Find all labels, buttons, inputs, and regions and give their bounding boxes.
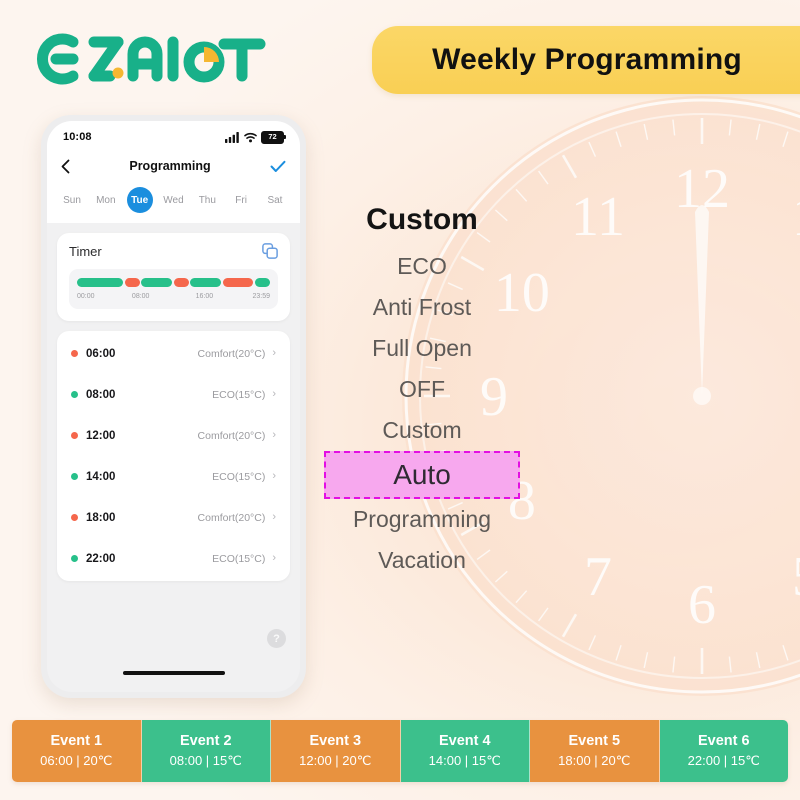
event-title: Event 6 bbox=[698, 733, 750, 749]
event-detail: 18:00 | 20℃ bbox=[558, 753, 630, 769]
chevron-right-icon[interactable]: › bbox=[272, 430, 276, 441]
day-thu[interactable]: Thu bbox=[194, 187, 220, 213]
battery-icon: 72 bbox=[261, 131, 284, 144]
event-card[interactable]: Event 622:00 | 15℃ bbox=[660, 720, 789, 782]
row-mode: ECO(15°C) bbox=[212, 471, 265, 483]
row-left: 06:00 bbox=[71, 348, 115, 360]
row-time: 08:00 bbox=[86, 389, 115, 401]
mode-item-full-open-3[interactable]: Full Open bbox=[372, 328, 472, 369]
day-sun[interactable]: Sun bbox=[59, 187, 85, 213]
event-title: Event 5 bbox=[568, 733, 620, 749]
event-detail: 12:00 | 20℃ bbox=[299, 753, 371, 769]
timeline-segment[interactable] bbox=[141, 278, 172, 287]
row-right: Comfort(20°C)› bbox=[198, 430, 276, 442]
back-chevron-icon[interactable] bbox=[61, 159, 70, 174]
timeline-box: 00:0008:0016:0023:59 bbox=[69, 269, 278, 309]
mode-item-programming-7[interactable]: Programming bbox=[353, 499, 491, 540]
svg-text:12: 12 bbox=[674, 158, 730, 220]
timeline-labels: 00:0008:0016:0023:59 bbox=[77, 291, 270, 304]
svg-text:11: 11 bbox=[571, 186, 625, 248]
schedule-row[interactable]: 14:00ECO(15°C)› bbox=[57, 456, 290, 497]
chevron-right-icon[interactable]: › bbox=[272, 553, 276, 564]
timeline-segment[interactable] bbox=[190, 278, 221, 287]
mode-item-vacation-8[interactable]: Vacation bbox=[378, 540, 466, 581]
mode-list: CustomECOAnti FrostFull OpenOFFCustomAut… bbox=[322, 196, 522, 581]
event-title: Event 4 bbox=[439, 733, 491, 749]
day-tue[interactable]: Tue bbox=[127, 187, 153, 213]
event-bar: Event 106:00 | 20℃Event 208:00 | 15℃Even… bbox=[12, 720, 788, 782]
brand-logo bbox=[32, 28, 268, 90]
chevron-right-icon[interactable]: › bbox=[272, 389, 276, 400]
status-dot bbox=[71, 350, 78, 357]
row-time: 12:00 bbox=[86, 430, 115, 442]
chevron-right-icon[interactable]: › bbox=[272, 471, 276, 482]
row-mode: ECO(15°C) bbox=[212, 553, 265, 565]
phone-screen: 10:08 bbox=[47, 121, 300, 692]
schedule-row[interactable]: 12:00Comfort(20°C)› bbox=[57, 415, 290, 456]
svg-text:6: 6 bbox=[688, 574, 716, 636]
row-time: 06:00 bbox=[86, 348, 115, 360]
row-mode: ECO(15°C) bbox=[212, 389, 265, 401]
day-wed[interactable]: Wed bbox=[160, 187, 186, 213]
row-time: 22:00 bbox=[86, 553, 115, 565]
row-time: 14:00 bbox=[86, 471, 115, 483]
row-mode: Comfort(20°C) bbox=[198, 348, 266, 360]
battery-level: 72 bbox=[268, 133, 276, 141]
event-title: Event 2 bbox=[180, 733, 232, 749]
schedule-row[interactable]: 22:00ECO(15°C)› bbox=[57, 538, 290, 579]
row-left: 14:00 bbox=[71, 471, 115, 483]
row-right: ECO(15°C)› bbox=[212, 471, 276, 483]
event-card[interactable]: Event 518:00 | 20℃ bbox=[530, 720, 660, 782]
mode-item-off-4[interactable]: OFF bbox=[399, 369, 445, 410]
status-dot bbox=[71, 391, 78, 398]
row-right: Comfort(20°C)› bbox=[198, 348, 276, 360]
svg-text:5: 5 bbox=[792, 546, 800, 608]
mode-item-custom-0[interactable]: Custom bbox=[366, 196, 478, 246]
row-right: Comfort(20°C)› bbox=[198, 512, 276, 524]
banner-title: Weekly Programming bbox=[432, 43, 764, 77]
event-detail: 06:00 | 20℃ bbox=[40, 753, 112, 769]
row-mode: Comfort(20°C) bbox=[198, 512, 266, 524]
timeline-label: 23:59 bbox=[252, 293, 270, 300]
row-left: 18:00 bbox=[71, 512, 115, 524]
check-icon[interactable] bbox=[270, 160, 286, 173]
page-title: Programming bbox=[129, 159, 210, 173]
event-detail: 22:00 | 15℃ bbox=[688, 753, 760, 769]
timeline-segment[interactable] bbox=[125, 278, 140, 287]
row-time: 18:00 bbox=[86, 512, 115, 524]
timeline-segment[interactable] bbox=[223, 278, 254, 287]
event-card[interactable]: Event 312:00 | 20℃ bbox=[271, 720, 401, 782]
row-right: ECO(15°C)› bbox=[212, 553, 276, 565]
timeline-segment[interactable] bbox=[174, 278, 189, 287]
mode-item-eco-1[interactable]: ECO bbox=[397, 246, 447, 287]
schedule-row[interactable]: 08:00ECO(15°C)› bbox=[57, 374, 290, 415]
chevron-right-icon[interactable]: › bbox=[272, 512, 276, 523]
event-card[interactable]: Event 414:00 | 15℃ bbox=[401, 720, 531, 782]
event-detail: 08:00 | 15℃ bbox=[170, 753, 242, 769]
day-sat[interactable]: Sat bbox=[262, 187, 288, 213]
day-mon[interactable]: Mon bbox=[93, 187, 119, 213]
status-dot bbox=[71, 432, 78, 439]
event-card[interactable]: Event 106:00 | 20℃ bbox=[12, 720, 142, 782]
status-dot bbox=[71, 514, 78, 521]
timeline-label: 16:00 bbox=[196, 293, 214, 300]
wifi-icon bbox=[244, 132, 257, 143]
status-time: 10:08 bbox=[63, 131, 92, 143]
mode-item-anti-frost-2[interactable]: Anti Frost bbox=[373, 287, 471, 328]
chevron-right-icon[interactable]: › bbox=[272, 348, 276, 359]
schedule-row[interactable]: 18:00Comfort(20°C)› bbox=[57, 497, 290, 538]
event-detail: 14:00 | 15℃ bbox=[429, 753, 501, 769]
phone-mockup: 10:08 bbox=[41, 115, 306, 698]
row-mode: Comfort(20°C) bbox=[198, 430, 266, 442]
row-right: ECO(15°C)› bbox=[212, 389, 276, 401]
home-indicator bbox=[123, 671, 225, 675]
event-title: Event 1 bbox=[50, 733, 102, 749]
row-left: 22:00 bbox=[71, 553, 115, 565]
status-icons: 72 bbox=[225, 131, 284, 144]
timeline-segment[interactable] bbox=[77, 278, 123, 287]
day-selector[interactable]: SunMonTueWedThuFriSat bbox=[47, 183, 300, 223]
timeline-segment[interactable] bbox=[255, 278, 270, 287]
timeline-label: 08:00 bbox=[132, 293, 150, 300]
timeline-label: 00:00 bbox=[77, 293, 95, 300]
schedule-list: 06:00Comfort(20°C)›08:00ECO(15°C)›12:00C… bbox=[57, 331, 290, 581]
mode-item-auto-6[interactable]: Auto bbox=[324, 451, 520, 499]
status-bar: 10:08 bbox=[47, 121, 300, 149]
day-fri[interactable]: Fri bbox=[228, 187, 254, 213]
row-left: 12:00 bbox=[71, 430, 115, 442]
help-button[interactable]: ? bbox=[267, 629, 286, 648]
event-title: Event 3 bbox=[309, 733, 361, 749]
schedule-row[interactable]: 06:00Comfort(20°C)› bbox=[57, 333, 290, 374]
copy-icon[interactable] bbox=[262, 243, 278, 259]
cellular-bars-icon bbox=[225, 132, 240, 143]
status-dot bbox=[71, 473, 78, 480]
timer-title: Timer bbox=[69, 244, 102, 259]
mode-item-custom-5[interactable]: Custom bbox=[382, 410, 461, 451]
header-banner: Weekly Programming bbox=[372, 26, 800, 94]
timer-header: Timer bbox=[69, 243, 278, 259]
row-left: 08:00 bbox=[71, 389, 115, 401]
timeline-bar[interactable] bbox=[77, 278, 270, 287]
poster-canvas: 121234567891011 bbox=[0, 0, 800, 800]
nav-bar: Programming bbox=[47, 149, 300, 183]
status-dot bbox=[71, 555, 78, 562]
event-card[interactable]: Event 208:00 | 15℃ bbox=[142, 720, 272, 782]
svg-text:1: 1 bbox=[792, 186, 800, 248]
svg-text:7: 7 bbox=[584, 546, 612, 608]
timer-card: Timer 00:0008:0016:0023:59 bbox=[57, 233, 290, 321]
